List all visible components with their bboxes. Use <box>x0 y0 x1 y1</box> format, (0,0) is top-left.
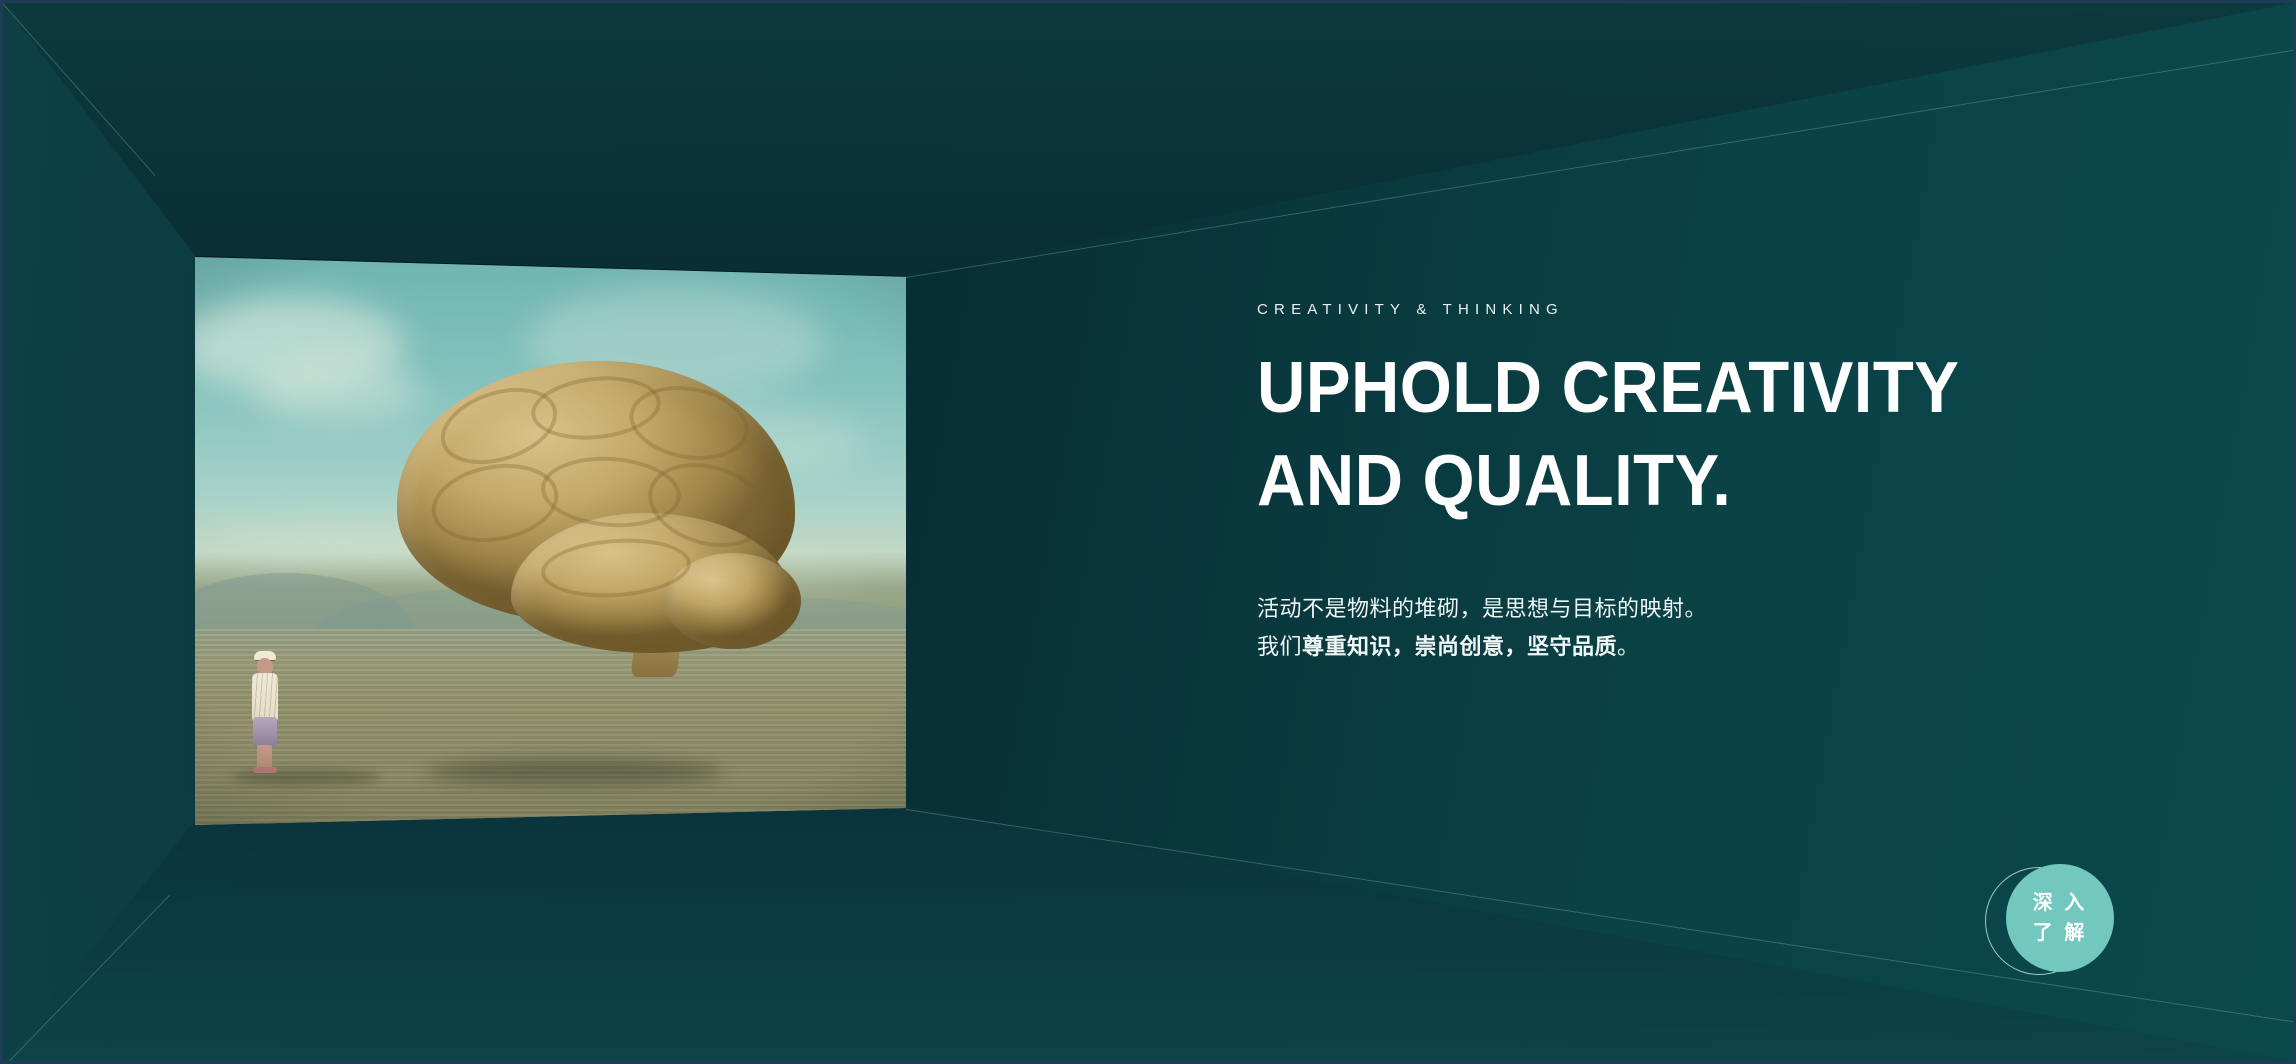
description-line-2-suffix: 。 <box>1617 634 1640 659</box>
description-line-2-prefix: 我们 <box>1257 634 1302 659</box>
cta-label-line-1: 深 入 <box>2021 888 2099 918</box>
brain-shadow <box>425 759 725 785</box>
description-line-2: 我们尊重知识，崇尚创意，坚守品质。 <box>1257 628 2157 666</box>
man-feet <box>253 767 277 773</box>
description-line-2-emphasis: 尊重知识，崇尚创意，坚守品质 <box>1302 634 1617 659</box>
cta-disc[interactable]: 深 入 了 解 <box>2006 864 2114 972</box>
headline-line-2: AND QUALITY. <box>1257 435 2094 528</box>
learn-more-button[interactable]: 深 入 了 解 <box>2006 864 2118 976</box>
page-title: UPHOLD CREATIVITY AND QUALITY. <box>1257 342 2094 528</box>
man-shirt <box>252 673 278 721</box>
cta-label: 深 入 了 解 <box>2021 888 2099 948</box>
cta-label-line-2: 了 解 <box>2021 918 2099 948</box>
hero-copy-block: CREATIVITY & THINKING UPHOLD CREATIVITY … <box>1257 301 2157 666</box>
eyebrow-label: CREATIVITY & THINKING <box>1257 301 2157 318</box>
giant-brain <box>391 353 811 671</box>
standing-man <box>247 651 287 773</box>
man-shorts <box>253 717 277 747</box>
brain-photo <box>195 257 906 825</box>
man-legs <box>257 745 272 769</box>
hero-image-frame <box>195 257 906 825</box>
headline-line-1: UPHOLD CREATIVITY <box>1257 342 2094 435</box>
hero-description: 活动不是物料的堆砌，是思想与目标的映射。 我们尊重知识，崇尚创意，坚守品质。 <box>1257 590 2157 666</box>
description-line-1: 活动不是物料的堆砌，是思想与目标的映射。 <box>1257 590 2157 628</box>
hero-banner: CREATIVITY & THINKING UPHOLD CREATIVITY … <box>0 0 2296 1064</box>
